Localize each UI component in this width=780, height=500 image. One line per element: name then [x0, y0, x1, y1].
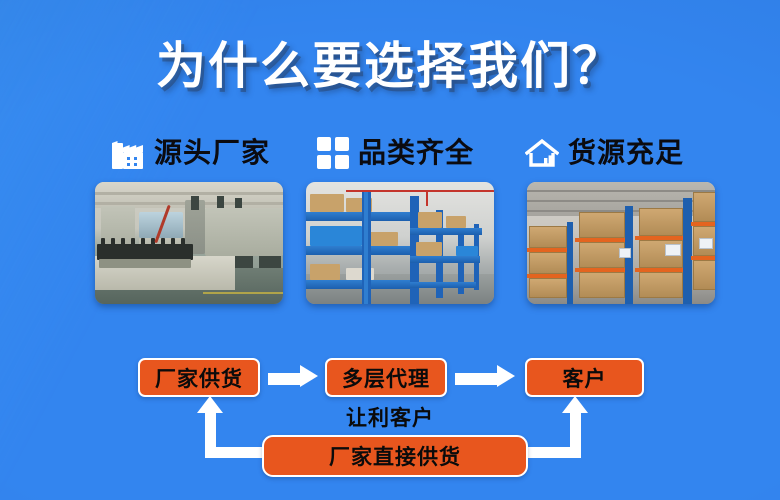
supply-chain-flow: 厂家供货 多层代理 客户 让利客户 厂家直接供货: [0, 340, 780, 500]
photo-factory-line: [95, 182, 283, 304]
flow-note-label: 让利客户: [0, 402, 780, 432]
promo-banner: 为什么要选择我们？ 源头厂家 品类齐全: [0, 0, 780, 500]
grid-icon: [317, 137, 349, 169]
feature-list: 源头厂家 品类齐全 货源充足: [95, 130, 715, 176]
feature-item-full-category: 品类齐全: [317, 130, 474, 176]
feature-label: 源头厂家: [154, 139, 270, 167]
photo-blue-shelving-warehouse: [306, 182, 494, 304]
page-title: 为什么要选择我们？: [0, 26, 780, 98]
flow-box-direct-supply[interactable]: 厂家直接供货: [262, 435, 528, 477]
feature-label: 品类齐全: [358, 139, 474, 167]
flow-box-manufacturer-supply[interactable]: 厂家供货: [138, 358, 260, 397]
flow-arrow-right-2: [455, 370, 515, 382]
feature-label: 货源充足: [568, 139, 684, 167]
feature-item-ample-stock: 货源充足: [525, 130, 684, 176]
photo-carton-warehouse: [527, 182, 715, 304]
flow-box-customer[interactable]: 客户: [525, 358, 644, 397]
factory-icon: [111, 137, 145, 169]
feature-item-source-factory: 源头厂家: [111, 130, 270, 176]
flow-box-multi-level-agent[interactable]: 多层代理: [325, 358, 447, 397]
warehouse-house-icon: [525, 137, 559, 169]
flow-arrow-right-1: [268, 370, 318, 382]
